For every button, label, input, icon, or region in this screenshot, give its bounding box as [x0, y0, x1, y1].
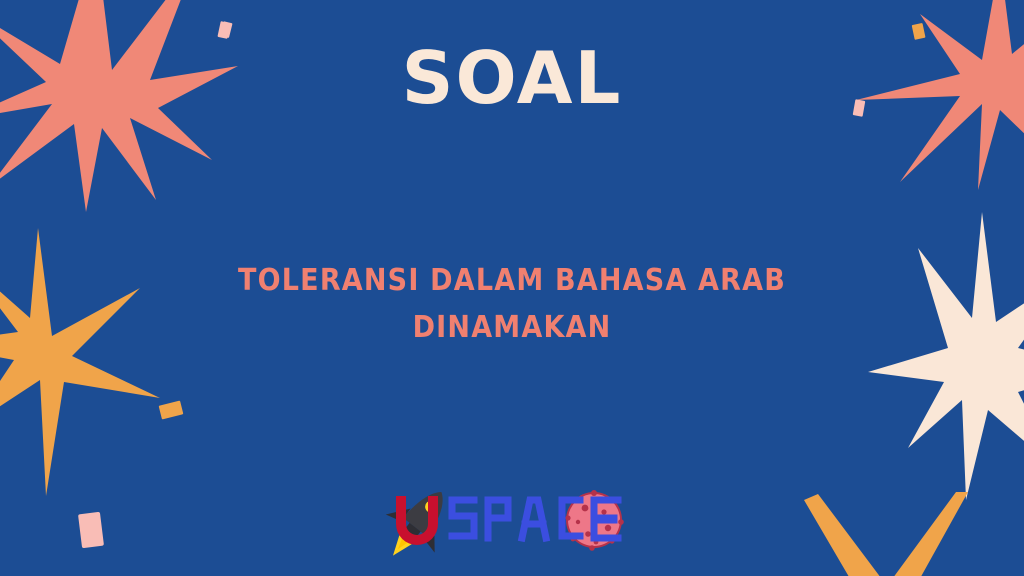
logo-letters-space	[452, 500, 618, 538]
page-title: SOAL	[0, 42, 1024, 114]
uspace-logo	[382, 482, 642, 562]
rocket-icon	[382, 482, 467, 562]
question-line-1: TOLERANSI DALAM BAHASA ARAB	[192, 258, 832, 305]
question-line-2: DINAMAKAN	[192, 305, 832, 352]
uspace-logo-svg	[382, 482, 642, 562]
presentation-slide: SOAL TOLERANSI DALAM BAHASA ARAB DINAMAK…	[0, 0, 1024, 576]
question-text: TOLERANSI DALAM BAHASA ARAB DINAMAKAN	[192, 258, 832, 351]
slide-content: SOAL TOLERANSI DALAM BAHASA ARAB DINAMAK…	[0, 0, 1024, 576]
